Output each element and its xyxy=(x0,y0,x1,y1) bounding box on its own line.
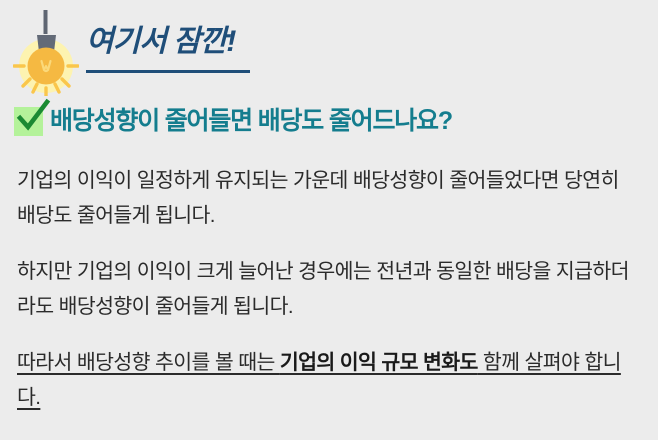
infographic-canvas: 여기서 잠깐! 배당성향이 줄어들면 배당도 줄어드나요? 기업의 이익이 일정… xyxy=(0,0,658,440)
title-underline xyxy=(86,70,250,73)
question-heading-row: 배당성향이 줄어들면 배당도 줄어드나요? xyxy=(14,106,452,136)
lightbulb-icon xyxy=(13,8,79,96)
paragraph-3: 따라서 배당성향 추이를 볼 때는 기업의 이익 규모 변화도 함께 살펴야 합… xyxy=(17,345,641,415)
question-heading: 배당성향이 줄어들면 배당도 줄어드나요? xyxy=(50,106,452,136)
paragraph-3-segment-0: 따라서 배당성향 추이를 볼 때는 xyxy=(17,351,280,374)
green-checkmark-icon xyxy=(14,107,43,136)
page-title: 여기서 잠깐! xyxy=(84,22,237,66)
body-copy: 기업의 이익이 일정하게 유지되는 가운데 배당성향이 줄어들었다면 당연히 배… xyxy=(17,163,641,415)
paragraph-3-segment-1: 기업의 이익 규모 변화도 xyxy=(280,351,478,374)
paragraph-2-segment-0: 하지만 기업의 이익이 크게 늘어난 경우에는 전년과 동일한 배당을 지급하더… xyxy=(17,260,629,318)
header-title-wrap: 여기서 잠깐! xyxy=(84,22,504,66)
paragraph-2: 하지만 기업의 이익이 크게 늘어난 경우에는 전년과 동일한 배당을 지급하더… xyxy=(17,254,641,324)
paragraph-1-segment-0: 기업의 이익이 일정하게 유지되는 가운데 배당성향이 줄어들었다면 당연히 배… xyxy=(17,169,619,227)
header-section: 여기서 잠깐! xyxy=(0,0,658,100)
paragraph-1: 기업의 이익이 일정하게 유지되는 가운데 배당성향이 줄어들었다면 당연히 배… xyxy=(17,163,641,233)
